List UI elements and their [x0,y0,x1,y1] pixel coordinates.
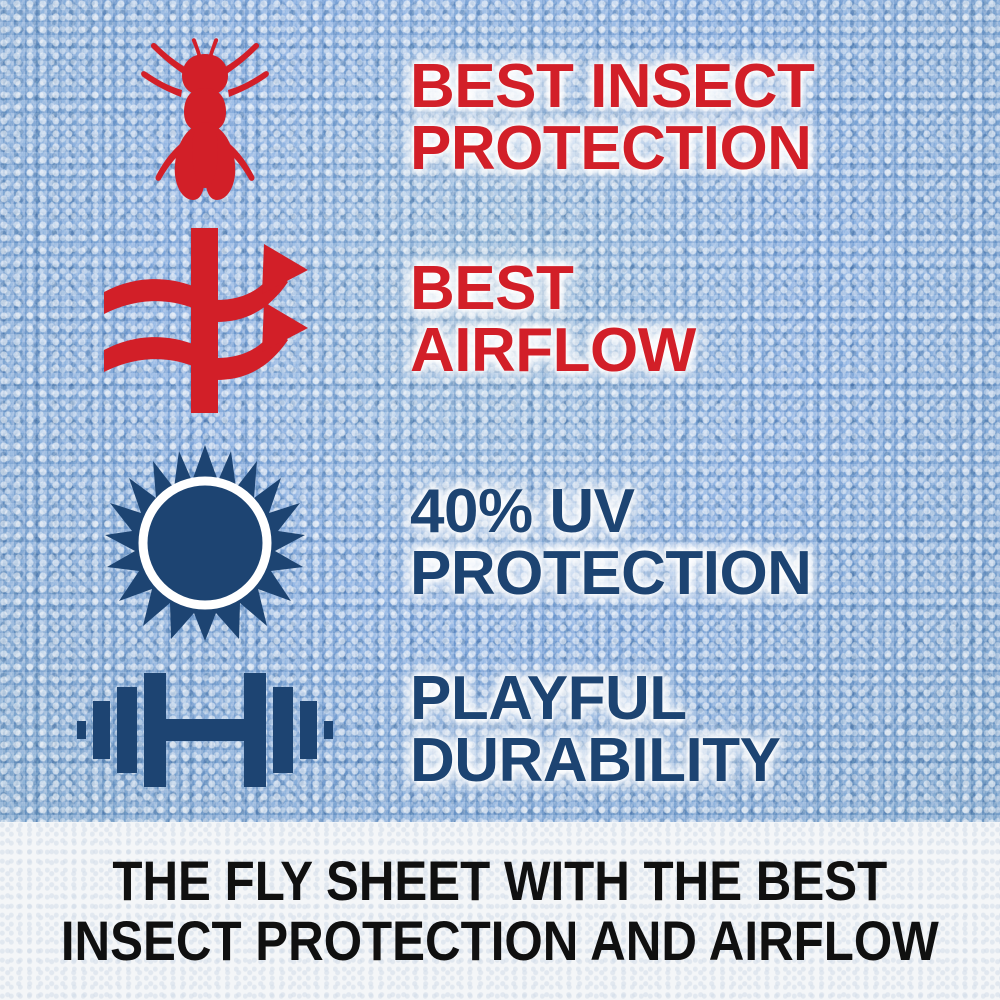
feature-label-airflow: BEST AIRFLOW [410,258,980,382]
feature-label-insect-protection: BEST INSECT PROTECTION [410,56,980,180]
dumbbell-icon [75,655,335,805]
sun-uv-icon [105,443,305,643]
feature-icon-cell [0,443,410,643]
feature-text-cell: PLAYFUL DURABILITY [410,668,1000,792]
feature-label-uv-protection: 40% UV PROTECTION [410,481,980,605]
feature-text-cell: 40% UV PROTECTION [410,481,1000,605]
feature-text-cell: BEST AIRFLOW [410,258,1000,382]
feature-row-uv-protection: 40% UV PROTECTION [0,440,1000,645]
product-feature-poster: BEST INSECT PROTECTION [0,0,1000,1000]
caption-band: THE FLY SHEET WITH THE BEST INSECT PROTE… [0,822,1000,1000]
feature-icon-cell [0,655,410,805]
feature-row-insect-protection: BEST INSECT PROTECTION [0,20,1000,215]
caption-headline: THE FLY SHEET WITH THE BEST INSECT PROTE… [61,851,939,971]
feature-row-durability: PLAYFUL DURABILITY [0,645,1000,815]
feature-icon-cell [0,228,410,413]
feature-text-cell: BEST INSECT PROTECTION [410,56,1000,180]
airflow-icon [98,228,313,413]
fly-icon [130,28,280,208]
feature-row-airflow: BEST AIRFLOW [0,225,1000,415]
feature-label-durability: PLAYFUL DURABILITY [410,668,980,792]
feature-icon-cell [0,28,410,208]
